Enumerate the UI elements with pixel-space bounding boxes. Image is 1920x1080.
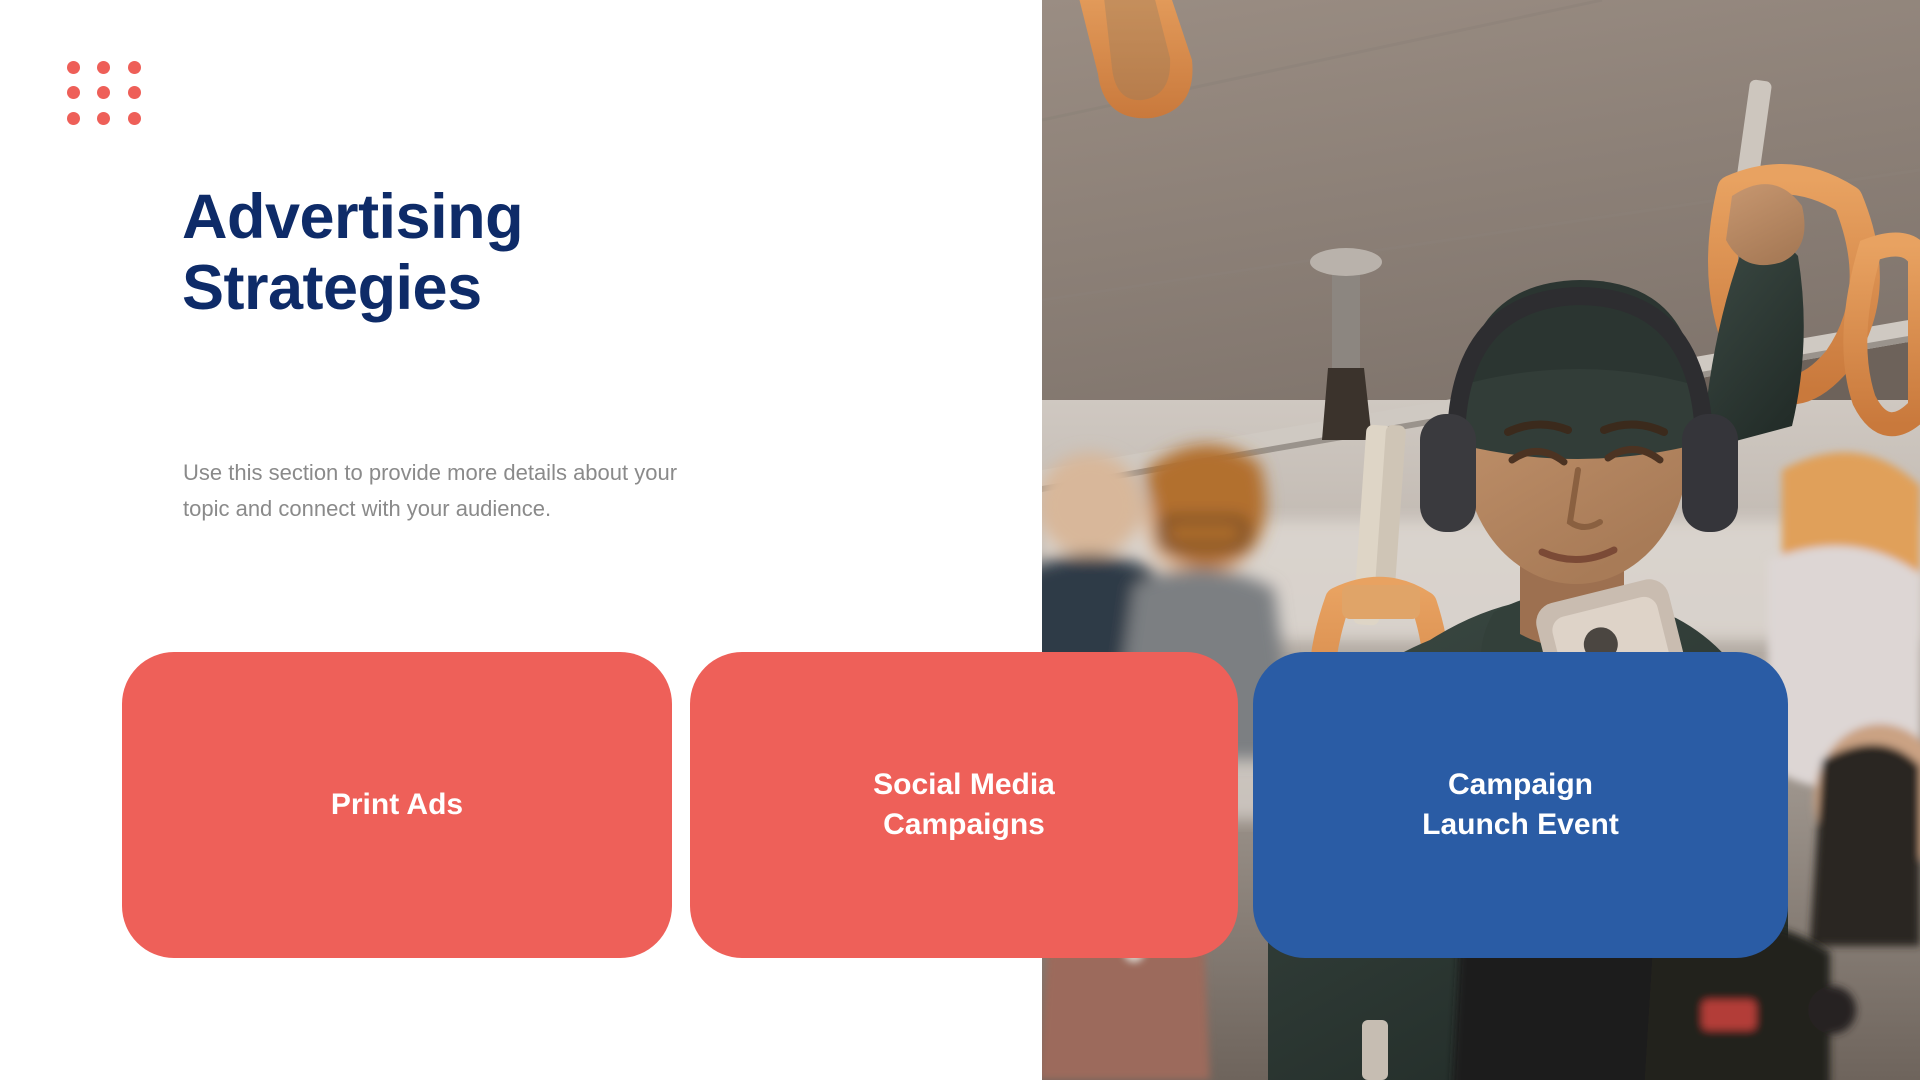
page-title-line-1: Advertising [182,182,942,253]
dot-icon [67,86,80,99]
page-title: Advertising Strategies [182,182,942,323]
dot-cell [89,55,120,80]
dot-cell [119,55,150,80]
dot-icon [67,61,80,74]
dot-icon [97,112,110,125]
card-print-ads[interactable]: Print Ads [122,652,672,958]
dot-cell [58,80,89,105]
slide-root: Advertising Strategies Use this section … [0,0,1920,1080]
card-campaign-launch-event-label: Campaign Launch Event [1422,765,1619,846]
dot-icon [97,86,110,99]
dot-cell [119,80,150,105]
dot-icon [67,112,80,125]
card-print-ads-label: Print Ads [331,785,463,826]
card-social-media-campaigns-label: Social Media Campaigns [873,765,1055,846]
dot-cell [89,106,120,131]
page-title-line-2: Strategies [182,253,942,324]
dot-cell [119,106,150,131]
body-description-line-1: Use this section to provide more details… [183,455,883,491]
dot-icon [128,112,141,125]
card-campaign-launch-event[interactable]: Campaign Launch Event [1253,652,1788,958]
dot-icon [128,86,141,99]
card-social-media-campaigns[interactable]: Social Media Campaigns [690,652,1238,958]
dot-cell [89,80,120,105]
dot-icon [128,61,141,74]
dot-icon [97,61,110,74]
dot-grid-decoration [58,55,150,131]
dot-cell [58,106,89,131]
dot-cell [58,55,89,80]
body-description-line-2: topic and connect with your audience. [183,491,883,527]
body-description: Use this section to provide more details… [183,455,883,528]
